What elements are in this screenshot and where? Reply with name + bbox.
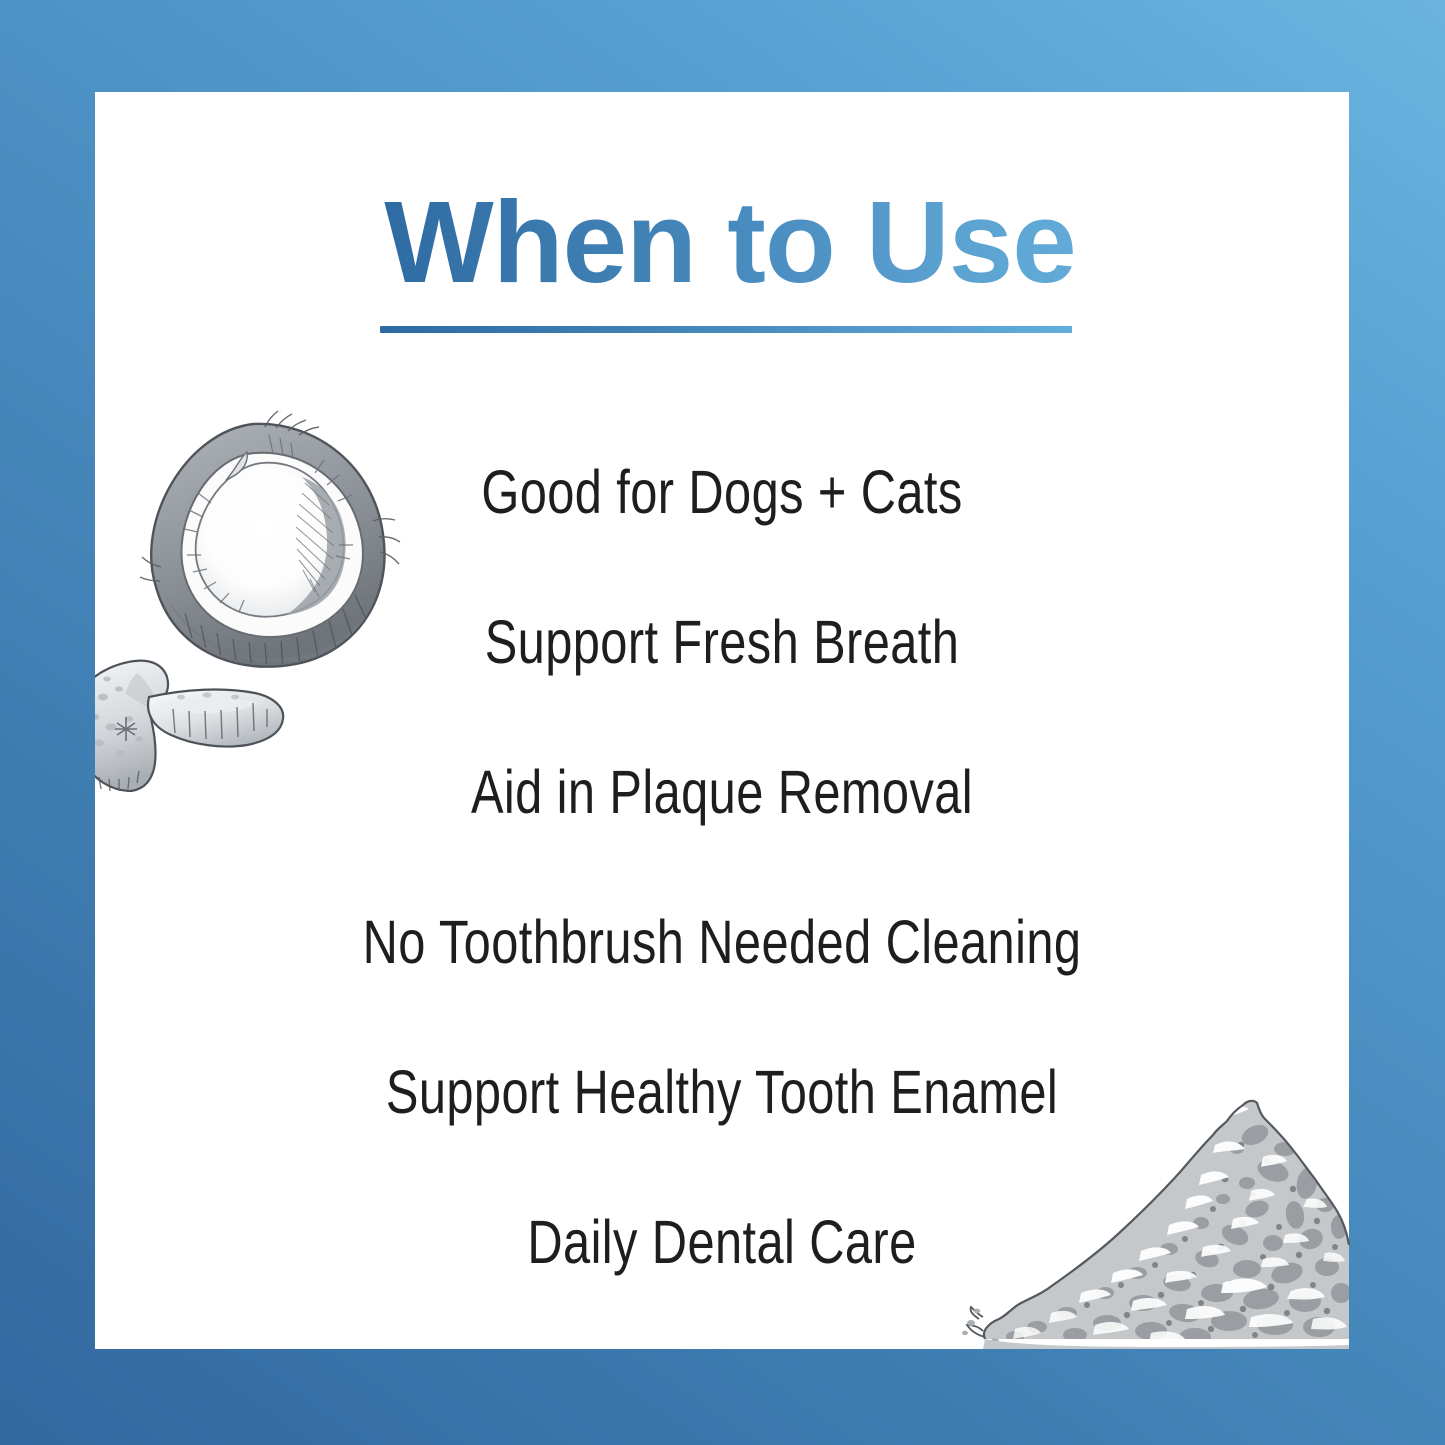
list-item: No Toothbrush Needed Cleaning xyxy=(220,867,1223,1017)
list-item: Good for Dogs + Cats xyxy=(220,417,1223,567)
poster-canvas: When to Use Good for Dogs + Cats Support… xyxy=(0,0,1445,1445)
heading-block: When to Use xyxy=(380,184,1080,333)
poster-card: When to Use Good for Dogs + Cats Support… xyxy=(95,92,1349,1349)
list-item: Support Fresh Breath xyxy=(220,567,1223,717)
page-title: When to Use xyxy=(380,184,1080,300)
title-divider xyxy=(380,326,1072,333)
list-item: Aid in Plaque Removal xyxy=(220,717,1223,867)
list-item: Support Healthy Tooth Enamel xyxy=(220,1017,1223,1167)
benefit-list: Good for Dogs + Cats Support Fresh Breat… xyxy=(95,417,1349,1317)
list-item: Daily Dental Care xyxy=(220,1167,1223,1317)
